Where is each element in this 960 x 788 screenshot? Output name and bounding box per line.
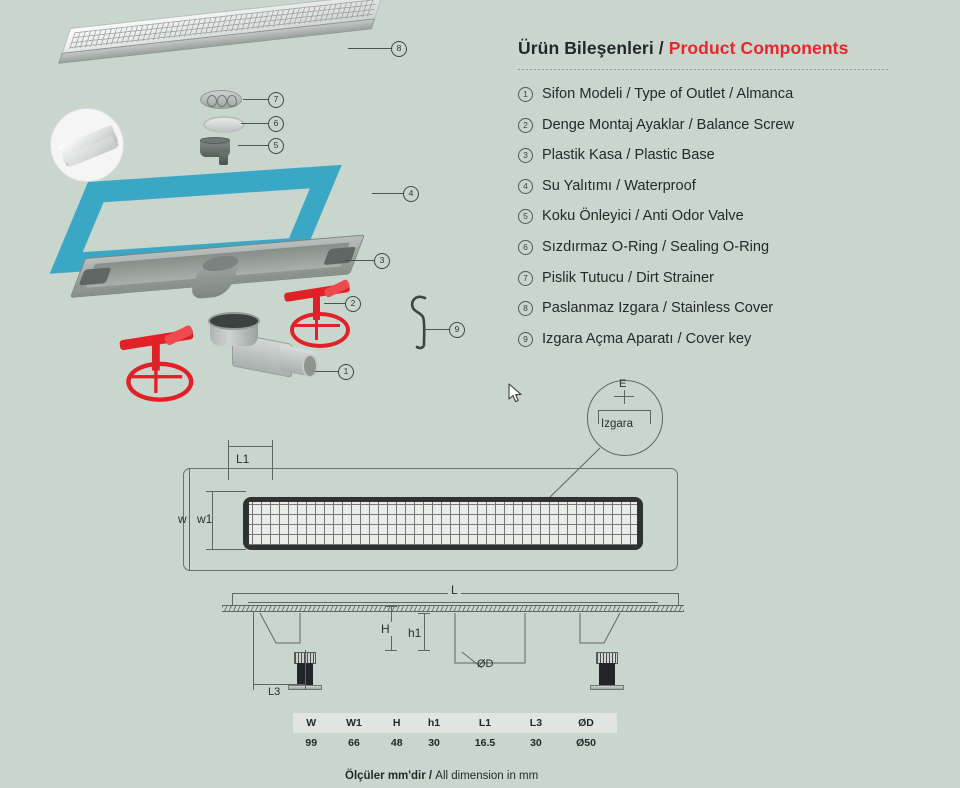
part-stainless-cover [55, 0, 383, 74]
l1-dimension-line [228, 446, 272, 447]
screw-spoke [128, 375, 182, 378]
top-view-grate-perforations [249, 502, 637, 545]
list-item: 9 Izgara Açma Aparatı / Cover key [518, 331, 918, 362]
callout-number-7: 7 [268, 92, 284, 108]
callout-line-8 [348, 48, 392, 49]
list-item-number: 9 [518, 332, 533, 347]
table-cell: 66 [329, 733, 378, 753]
footnote-turkish: Ölçüler mm'dir [345, 770, 426, 782]
part-sealing-o-ring [203, 116, 245, 133]
units-footnote: Ölçüler mm'dir / All dimension in mm [345, 770, 765, 782]
list-item-number: 2 [518, 118, 533, 133]
table-header-cell: h1 [415, 713, 453, 733]
l-extension-right [678, 593, 679, 605]
list-item: 4 Su Yalıtımı / Waterproof [518, 178, 918, 209]
bubble-grate-top [598, 410, 650, 411]
label-diameter-d: ØD [477, 658, 494, 670]
outlet-collar [208, 312, 260, 330]
callout-number-8: 8 [391, 41, 407, 57]
table-cell: 30 [517, 733, 555, 753]
callout-number-5: 5 [268, 138, 284, 154]
list-item-number: 7 [518, 271, 533, 286]
panel-title: Ürün Bileşenleri / Product Components [518, 38, 918, 59]
h-tick-top [385, 606, 397, 607]
valve-rim [200, 137, 230, 144]
callout-line-4 [372, 193, 404, 194]
callout-number-1: 1 [338, 364, 354, 380]
screw-t-bar-arm [323, 279, 350, 298]
product-spec-sheet: 8 7 6 5 4 [0, 0, 960, 788]
table-header-cell: L3 [517, 713, 555, 733]
callout-number-6: 6 [268, 116, 284, 132]
list-item: 7 Pislik Tutucu / Dirt Strainer [518, 270, 918, 301]
callout-line-7 [243, 99, 269, 100]
h1-dimension-line [424, 613, 425, 650]
inset-detail-photo [50, 108, 124, 182]
screw-t-bar-arm [164, 324, 195, 346]
w-dimension-line [189, 468, 190, 571]
callout-line-2 [324, 303, 346, 304]
l3-extension-left [253, 612, 254, 690]
part-balance-screw-lower [115, 328, 198, 397]
list-item-number: 8 [518, 301, 533, 316]
detail-dimension-e: E [619, 378, 626, 390]
list-item-number: 1 [518, 87, 533, 102]
footnote-english: All dimension in mm [435, 770, 538, 782]
table-cell: 30 [415, 733, 453, 753]
exploded-assembly-diagram: 8 7 6 5 4 [0, 0, 510, 400]
screw-stem [152, 341, 160, 370]
list-item: 3 Plastik Kasa / Plastic Base [518, 147, 918, 178]
panel-title-separator: / [654, 38, 669, 58]
strainer-slot [227, 95, 237, 107]
list-item: 1 Sifon Modeli / Type of Outlet / Almanc… [518, 86, 918, 117]
part-outlet-siphon [206, 312, 316, 384]
table-cell: 16.5 [453, 733, 517, 753]
callout-line-9 [424, 329, 450, 330]
list-item: 2 Denge Montaj Ayaklar / Balance Screw [518, 117, 918, 148]
list-item-number: 4 [518, 179, 533, 194]
top-view-grate [243, 497, 643, 550]
callout-line-6 [241, 123, 269, 124]
label-h: H [379, 622, 392, 636]
label-l: L [448, 583, 461, 597]
dimension-table: W W1 H h1 L1 L3 ØD 99 66 48 30 16.5 30 Ø… [293, 713, 617, 753]
list-item: 6 Sızdırmaz O-Ring / Sealing O-Ring [518, 239, 918, 270]
panel-divider [518, 69, 888, 70]
list-item-label: Su Yalıtımı / Waterproof [542, 178, 696, 194]
list-item-label: Koku Önleyici / Anti Odor Valve [542, 208, 744, 224]
table-header-cell: W [293, 713, 329, 733]
outlet-pipe-mouth [302, 354, 318, 378]
label-h1: h1 [406, 626, 423, 640]
strainer-slot [217, 95, 227, 107]
list-item-label: Izgara Açma Aparatı / Cover key [542, 331, 751, 347]
l3-extension-right [305, 650, 306, 690]
mouse-cursor [508, 383, 524, 405]
list-item-number: 6 [518, 240, 533, 255]
bubble-grate-right [650, 410, 651, 424]
section-body-top [248, 602, 658, 603]
table-header-cell: ØD [555, 713, 617, 733]
table-header-cell: L1 [453, 713, 517, 733]
strainer-slot [207, 95, 217, 107]
callout-number-3: 3 [374, 253, 390, 269]
list-item-number: 5 [518, 209, 533, 224]
panel-title-english: Product Components [669, 38, 849, 58]
table-cell: 48 [379, 733, 415, 753]
panel-title-turkish: Ürün Bileşenleri [518, 38, 654, 58]
list-item-label: Denge Montaj Ayaklar / Balance Screw [542, 117, 794, 133]
detail-label-izgara: Izgara [601, 418, 633, 430]
table-cell: 99 [293, 733, 329, 753]
w1-extension-top [206, 491, 246, 492]
component-list: 1 Sifon Modeli / Type of Outlet / Almanc… [518, 86, 918, 361]
l-extension-left [232, 593, 233, 605]
footnote-separator: / [426, 770, 436, 782]
list-item-label: Plastik Kasa / Plastic Base [542, 147, 715, 163]
list-item-label: Sifon Modeli / Type of Outlet / Almanca [542, 86, 793, 102]
bubble-dim-line [614, 396, 634, 397]
h-tick-bottom [385, 650, 397, 651]
part-cover-key [404, 292, 438, 354]
part-dirt-strainer [200, 90, 242, 109]
bubble-dim-tick [624, 390, 625, 404]
callout-number-2: 2 [345, 296, 361, 312]
bubble-grate-left [598, 410, 599, 424]
foot-base-pad [590, 685, 624, 690]
section-leveling-foot-right [590, 638, 624, 696]
callout-line-5 [238, 145, 269, 146]
label-w1: w1 [197, 512, 212, 526]
part-anti-odor-valve [200, 138, 240, 165]
callout-number-4: 4 [403, 186, 419, 202]
list-item-label: Paslanmaz Izgara / Stainless Cover [542, 300, 773, 316]
list-item: 8 Paslanmaz Izgara / Stainless Cover [518, 300, 918, 331]
label-l3: L3 [268, 686, 280, 698]
label-l1: L1 [236, 452, 249, 466]
foot-threaded-rod [599, 663, 615, 686]
callout-number-9: 9 [449, 322, 465, 338]
w1-extension-bottom [206, 549, 246, 550]
callout-line-1 [315, 371, 339, 372]
list-item-number: 3 [518, 148, 533, 163]
valve-outlet-tail [219, 152, 228, 165]
table-header-row: W W1 H h1 L1 L3 ØD [293, 713, 617, 733]
table-row: 99 66 48 30 16.5 30 Ø50 [293, 733, 617, 753]
callout-line-3 [345, 260, 375, 261]
product-components-panel: Ürün Bileşenleri / Product Components 1 … [518, 38, 918, 377]
label-w: w [178, 512, 187, 526]
table-header-cell: W1 [329, 713, 378, 733]
l3-dimension-line [253, 684, 305, 685]
h1-tick-bottom [418, 650, 430, 651]
h1-tick-top [418, 613, 430, 614]
list-item: 5 Koku Önleyici / Anti Odor Valve [518, 208, 918, 239]
list-item-label: Pislik Tutucu / Dirt Strainer [542, 270, 714, 286]
list-item-label: Sızdırmaz O-Ring / Sealing O-Ring [542, 239, 769, 255]
l1-extension-right [272, 440, 273, 480]
table-cell: Ø50 [555, 733, 617, 753]
table-header-cell: H [379, 713, 415, 733]
